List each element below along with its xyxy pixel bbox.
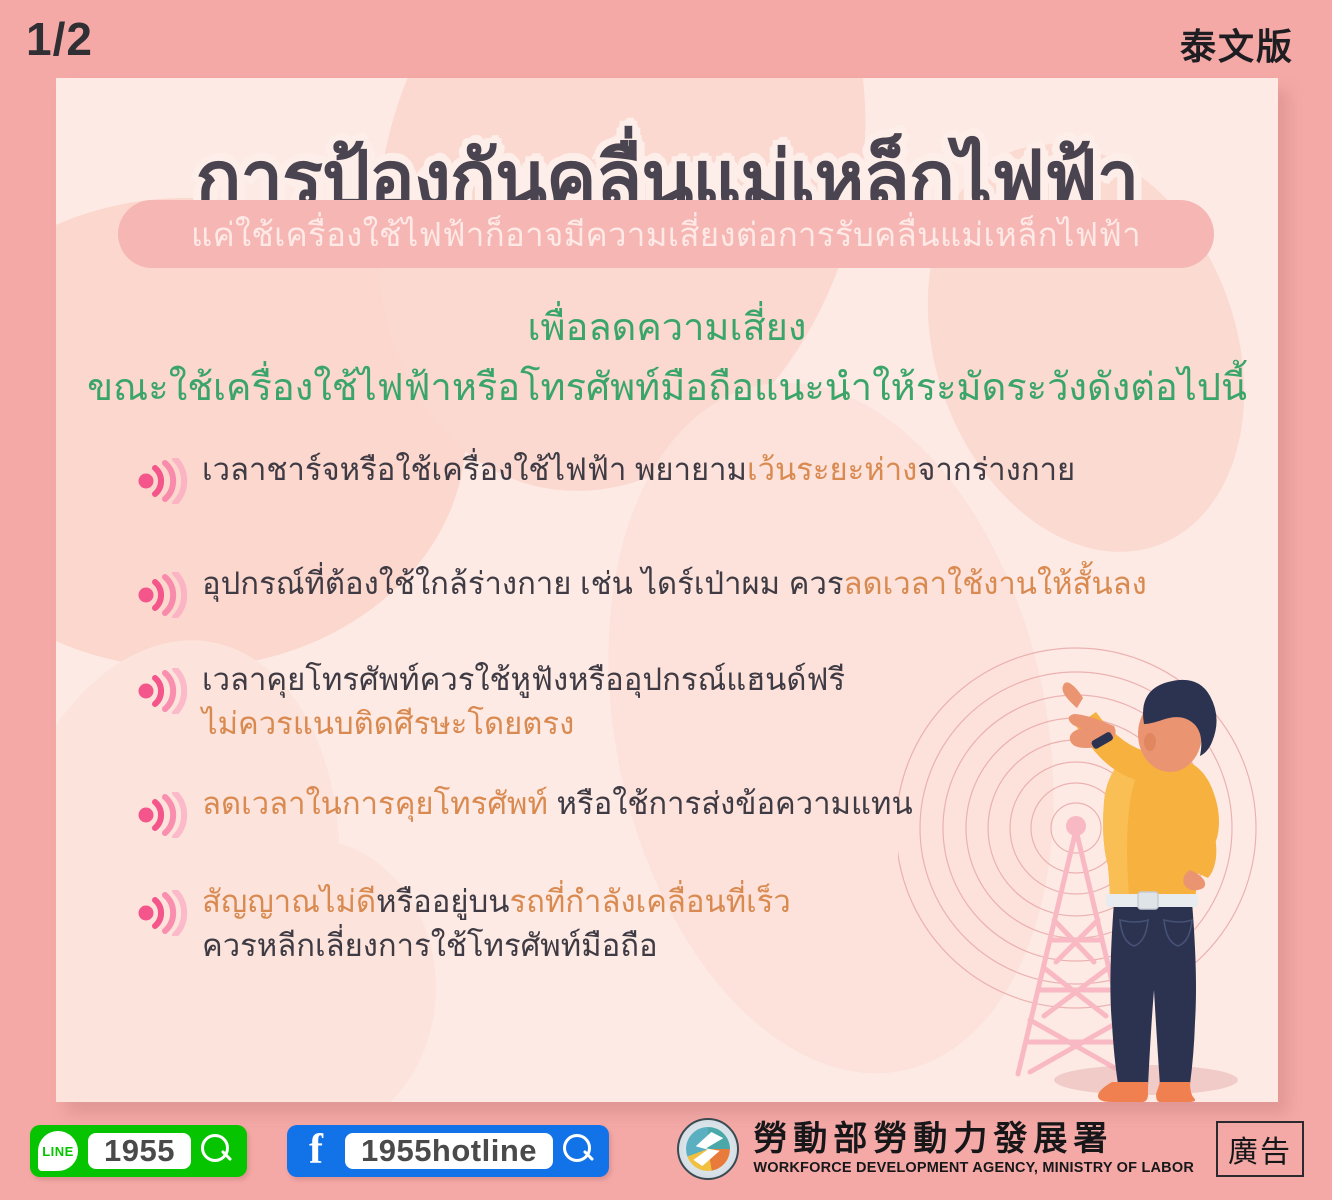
agency-credit: 勞動部勞動力發展署 WORKFORCE DEVELOPMENT AGENCY, … [677, 1118, 1304, 1180]
poster-card: การป้องกันคลื่นแม่เหล็กไฟฟ้า แค่ใช้เครื่… [56, 78, 1278, 1102]
list-item-text: ลดเวลาในการคุยโทรศัพท์ หรือใช้การส่งข้อค… [202, 782, 1196, 826]
magnifier-icon[interactable] [201, 1134, 235, 1168]
footer-bar: LINE 1955 f 1955hotline 勞動部勞動力發展署 WORKFO… [0, 1102, 1332, 1200]
segment-highlight: สัญญาณไม่ดี [202, 884, 376, 919]
signal-wave-icon [136, 572, 188, 618]
segment-highlight: เว้นระยะห่าง [747, 452, 917, 487]
segment-highlight: รถที่กำลังเคลื่อนที่เร็ว [509, 884, 790, 919]
signal-wave-icon [136, 890, 188, 936]
signal-wave-icon [136, 668, 188, 714]
signal-wave-icon [136, 792, 188, 838]
line-contact-badge[interactable]: LINE 1955 [30, 1125, 247, 1177]
facebook-contact-badge[interactable]: f 1955hotline [287, 1125, 609, 1177]
segment: หรืออยู่บน [376, 884, 509, 919]
segment: จากร่างกาย [917, 452, 1075, 487]
segment: เวลาชาร์จหรือใช้เครื่องใช้ไฟฟ้า พยายาม [202, 452, 747, 487]
signal-wave-icon [136, 458, 188, 504]
segment: อุปกรณ์ที่ต้องใช้ใกล้ร่างกาย เช่น ไดร์เป… [202, 566, 844, 601]
agency-name-english: WORKFORCE DEVELOPMENT AGENCY, MINISTRY O… [753, 1160, 1194, 1176]
subtitle-banner: แค่ใช้เครื่องใช้ไฟฟ้าก็อาจมีความเสี่ยงต่… [118, 200, 1214, 268]
list-item: เวลาชาร์จหรือใช้เครื่องใช้ไฟฟ้า พยายามเว… [136, 448, 1196, 504]
line-id-field[interactable]: 1955 [88, 1133, 191, 1169]
facebook-logo-icon: f [297, 1131, 335, 1171]
page-indicator: 1/2 [26, 12, 93, 66]
list-item: ลดเวลาในการคุยโทรศัพท์ หรือใช้การส่งข้อค… [136, 782, 1196, 838]
subtitle-text: แค่ใช้เครื่องใช้ไฟฟ้าก็อาจมีความเสี่ยงต่… [191, 208, 1141, 261]
list-item: สัญญาณไม่ดีหรืออยู่บนรถที่กำลังเคลื่อนที… [136, 880, 1196, 968]
list-item-text: เวลาชาร์จหรือใช้เครื่องใช้ไฟฟ้า พยายามเว… [202, 448, 1196, 492]
line-logo-icon: LINE [38, 1131, 78, 1171]
advertisement-label: 廣告 [1216, 1121, 1304, 1177]
agency-logo-icon [677, 1118, 739, 1180]
line-id-value: 1955 [104, 1133, 175, 1169]
facebook-page-value: 1955hotline [361, 1133, 537, 1169]
list-item: เวลาคุยโทรศัพท์ควรใช้หูฟังหรืออุปกรณ์แฮน… [136, 658, 1196, 746]
agency-name-block: 勞動部勞動力發展署 WORKFORCE DEVELOPMENT AGENCY, … [753, 1122, 1194, 1177]
green-heading-secondary: ขณะใช้เครื่องใช้ไฟฟ้าหรือโทรศัพท์มือถือแ… [56, 356, 1278, 417]
list-item: อุปกรณ์ที่ต้องใช้ใกล้ร่างกาย เช่น ไดร์เป… [136, 562, 1196, 618]
segment-highlight: ไม่ควรแนบติดศีรษะโดยตรง [202, 706, 574, 741]
list-item-text: อุปกรณ์ที่ต้องใช้ใกล้ร่างกาย เช่น ไดร์เป… [202, 562, 1196, 606]
agency-name-chinese: 勞動部勞動力發展署 [753, 1122, 1194, 1158]
segment: เวลาคุยโทรศัพท์ควรใช้หูฟังหรืออุปกรณ์แฮน… [202, 662, 845, 697]
list-item-text: สัญญาณไม่ดีหรืออยู่บนรถที่กำลังเคลื่อนที… [202, 880, 1196, 968]
segment: หรือใช้การส่งข้อความแทน [548, 786, 913, 821]
segment: ควรหลีกเลี่ยงการใช้โทรศัพท์มือถือ [202, 928, 658, 963]
list-item-text: เวลาคุยโทรศัพท์ควรใช้หูฟังหรืออุปกรณ์แฮน… [202, 658, 1196, 746]
magnifier-icon[interactable] [563, 1134, 597, 1168]
facebook-page-field[interactable]: 1955hotline [345, 1133, 553, 1169]
language-version-badge: 泰文版 [1180, 18, 1294, 70]
advice-list: เวลาชาร์จหรือใช้เครื่องใช้ไฟฟ้า พยายามเว… [136, 448, 1196, 994]
segment-highlight: ลดเวลาใช้งานให้สั้นลง [844, 566, 1147, 601]
green-heading-primary: เพื่อลดความเสี่ยง [56, 296, 1278, 357]
line-logo-label: LINE [42, 1144, 74, 1159]
segment-highlight: ลดเวลาในการคุยโทรศัพท์ [202, 786, 548, 821]
